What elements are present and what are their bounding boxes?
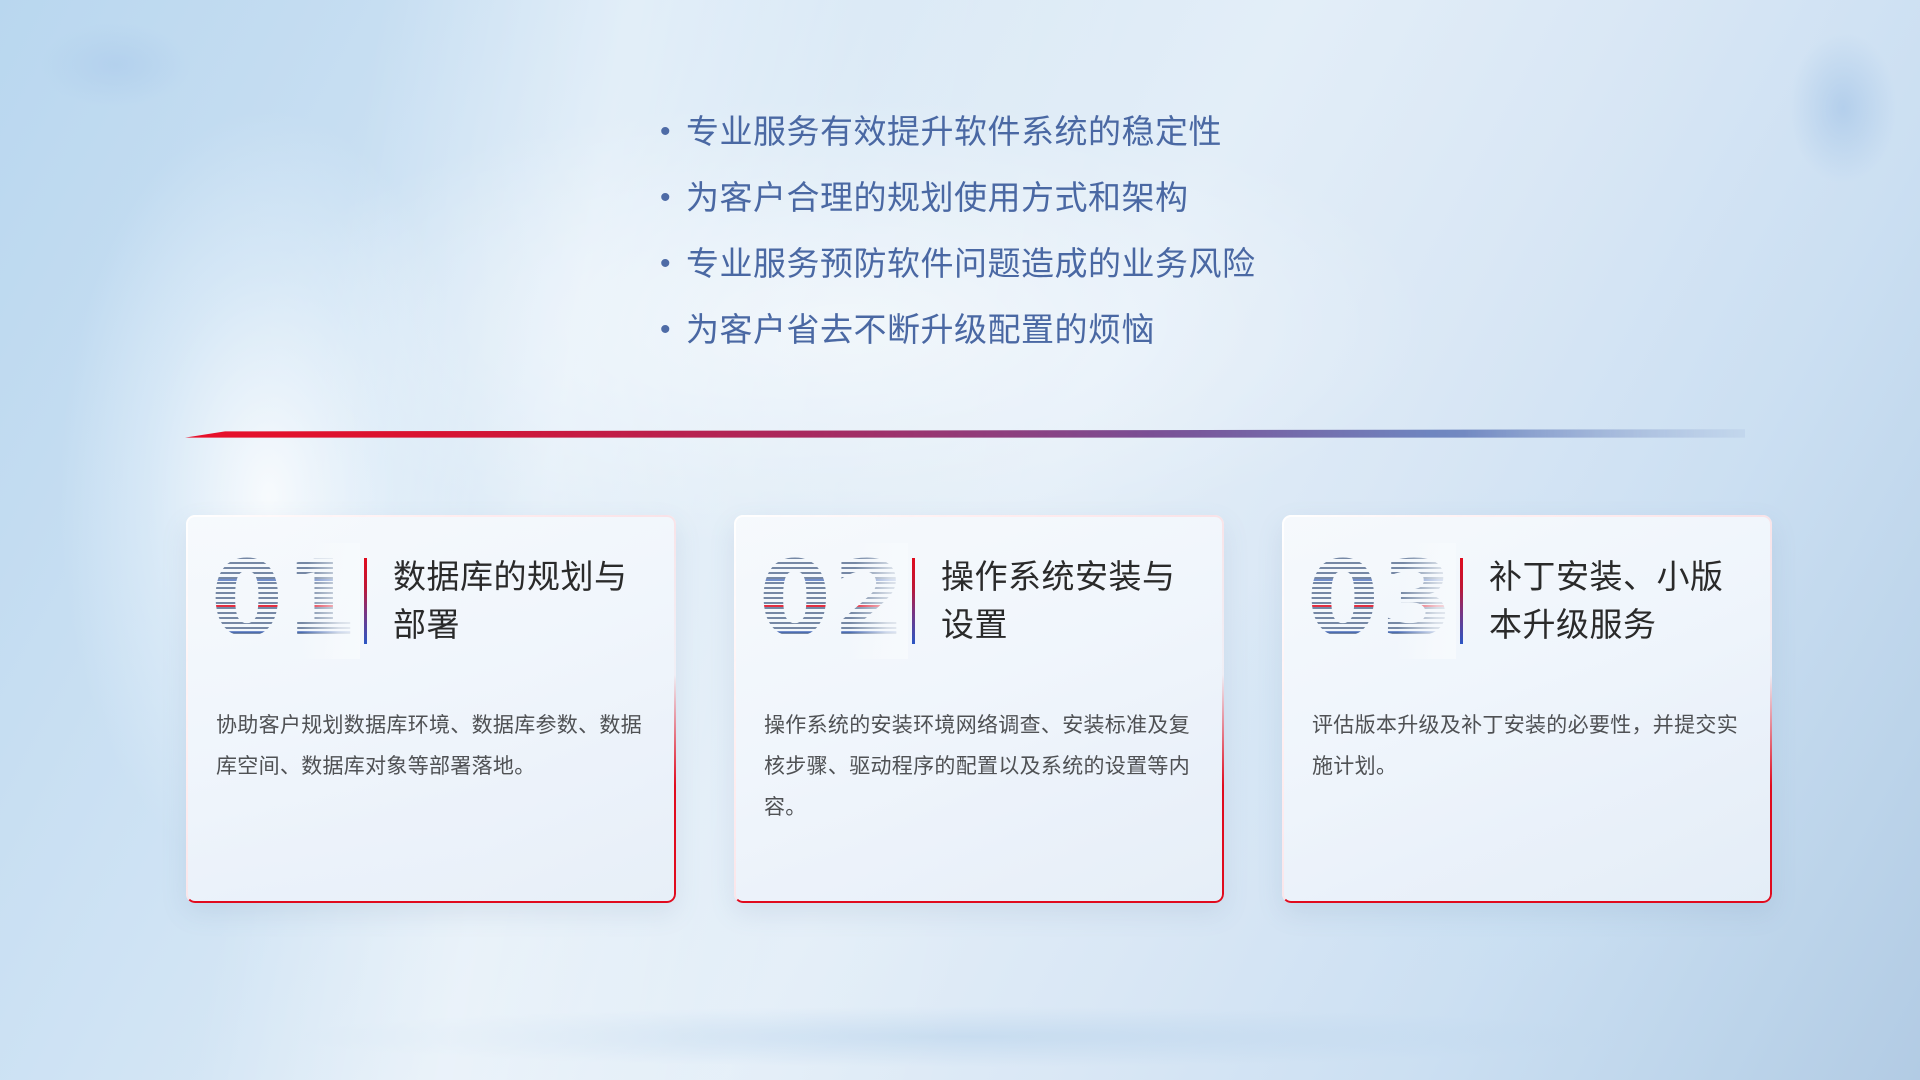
bullet-dot-icon: • xyxy=(660,242,686,286)
list-item: • 为客户合理的规划使用方式和架构 xyxy=(660,176,1256,220)
divider-shape xyxy=(185,425,1745,438)
card-title: 数据库的规划与部署 xyxy=(393,553,643,649)
card-header: 03 补丁安装、小版本升级服务 xyxy=(1282,515,1772,681)
card-description: 操作系统的安装环境网络调查、安装标准及复核步骤、驱动程序的配置以及系统的设置等内… xyxy=(764,705,1194,828)
service-card-row: 01 数据库的规划与部署 协助客户规划数据库环境、数据库参数、数据库空间、数据库… xyxy=(0,515,1920,903)
card-number-fade-overlay xyxy=(210,543,360,659)
bullet-text: 专业服务有效提升软件系统的稳定性 xyxy=(686,110,1222,154)
card-number-fade-overlay xyxy=(758,543,908,659)
card-header: 01 数据库的规划与部署 xyxy=(186,515,676,681)
bullet-dot-icon: • xyxy=(660,308,686,352)
benefits-bullet-list: • 专业服务有效提升软件系统的稳定性 • 为客户合理的规划使用方式和架构 • 专… xyxy=(660,110,1256,352)
card-title: 操作系统安装与设置 xyxy=(941,553,1191,649)
bullet-dot-icon: • xyxy=(660,176,686,220)
card-number-fade-overlay xyxy=(1306,543,1456,659)
card-description: 评估版本升级及补丁安装的必要性，并提交实施计划。 xyxy=(1312,705,1742,787)
card-title-divider-bar xyxy=(364,558,367,644)
card-number-03: 03 xyxy=(1306,543,1456,659)
list-item: • 专业服务预防软件问题造成的业务风险 xyxy=(660,242,1256,286)
bullet-text: 为客户省去不断升级配置的烦恼 xyxy=(686,308,1155,352)
card-title: 补丁安装、小版本升级服务 xyxy=(1489,553,1739,649)
card-description: 协助客户规划数据库环境、数据库参数、数据库空间、数据库对象等部署落地。 xyxy=(216,705,646,787)
bullet-text: 专业服务预防软件问题造成的业务风险 xyxy=(686,242,1256,286)
card-title-divider-bar xyxy=(912,558,915,644)
bullet-dot-icon: • xyxy=(660,110,686,154)
service-card-03[interactable]: 03 补丁安装、小版本升级服务 评估版本升级及补丁安装的必要性，并提交实施计划。 xyxy=(1282,515,1772,903)
section-divider xyxy=(185,425,1745,438)
card-number-02: 02 xyxy=(758,543,908,659)
card-number-01: 01 xyxy=(210,543,360,659)
bullet-text: 为客户合理的规划使用方式和架构 xyxy=(686,176,1189,220)
list-item: • 专业服务有效提升软件系统的稳定性 xyxy=(660,110,1256,154)
service-card-01[interactable]: 01 数据库的规划与部署 协助客户规划数据库环境、数据库参数、数据库空间、数据库… xyxy=(186,515,676,903)
card-header: 02 操作系统安装与设置 xyxy=(734,515,1224,681)
list-item: • 为客户省去不断升级配置的烦恼 xyxy=(660,308,1256,352)
service-card-02[interactable]: 02 操作系统安装与设置 操作系统的安装环境网络调查、安装标准及复核步骤、驱动程… xyxy=(734,515,1224,903)
card-title-divider-bar xyxy=(1460,558,1463,644)
